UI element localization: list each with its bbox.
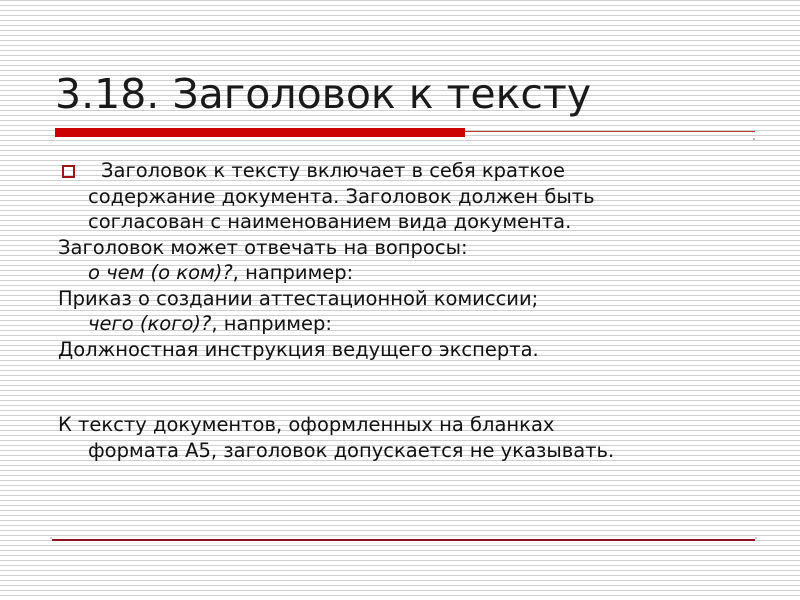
title-underline-thick-bar [55, 128, 465, 137]
paragraph-3: о чем (о ком)?, например: [55, 260, 755, 286]
paragraph-1-line-2: содержание документа. Заголовок должен б… [88, 184, 755, 210]
title-underline-rule [55, 128, 755, 137]
paragraph-6: Должностная инструкция ведущего эксперта… [55, 337, 755, 363]
paragraph-3-rest: , например: [233, 261, 354, 284]
slide-canvas: 3.18. Заголовок к тексту Заголовок к тек… [0, 0, 800, 600]
paragraph-5: чего (кого)?, например: [55, 311, 755, 337]
paragraph-spacer [55, 362, 755, 387]
square-bullet-icon [62, 165, 75, 178]
title-rule-end-tick [753, 138, 755, 140]
title-underline-thin-line [465, 131, 755, 132]
paragraph-7-line-2: формата А5, заголовок допускается не ука… [88, 438, 755, 464]
paragraph-1-line-1: Заголовок к тексту включает в себя кратк… [101, 158, 755, 184]
paragraph-3-italic: о чем (о ком)? [88, 261, 233, 284]
title-block: 3.18. Заголовок к тексту [55, 70, 765, 118]
footer-divider-rule [52, 539, 755, 541]
paragraph-1-line-3: согласован с наименованием вида документ… [88, 209, 755, 235]
paragraph-2: Заголовок может отвечать на вопросы: [55, 235, 755, 261]
paragraph-7-line-1: К тексту документов, оформленных на блан… [58, 413, 554, 436]
paragraph-4: Приказ о создании аттестационной комисси… [55, 286, 755, 312]
paragraph-5-rest: , например: [211, 312, 332, 335]
body-content: Заголовок к тексту включает в себя кратк… [55, 158, 755, 463]
paragraph-5-italic: чего (кого)? [88, 312, 211, 335]
paragraph-7: К тексту документов, оформленных на блан… [55, 412, 755, 463]
paragraph-spacer-2 [55, 387, 755, 412]
page-title: 3.18. Заголовок к тексту [55, 70, 765, 118]
bulleted-paragraph: Заголовок к тексту включает в себя кратк… [55, 158, 755, 235]
